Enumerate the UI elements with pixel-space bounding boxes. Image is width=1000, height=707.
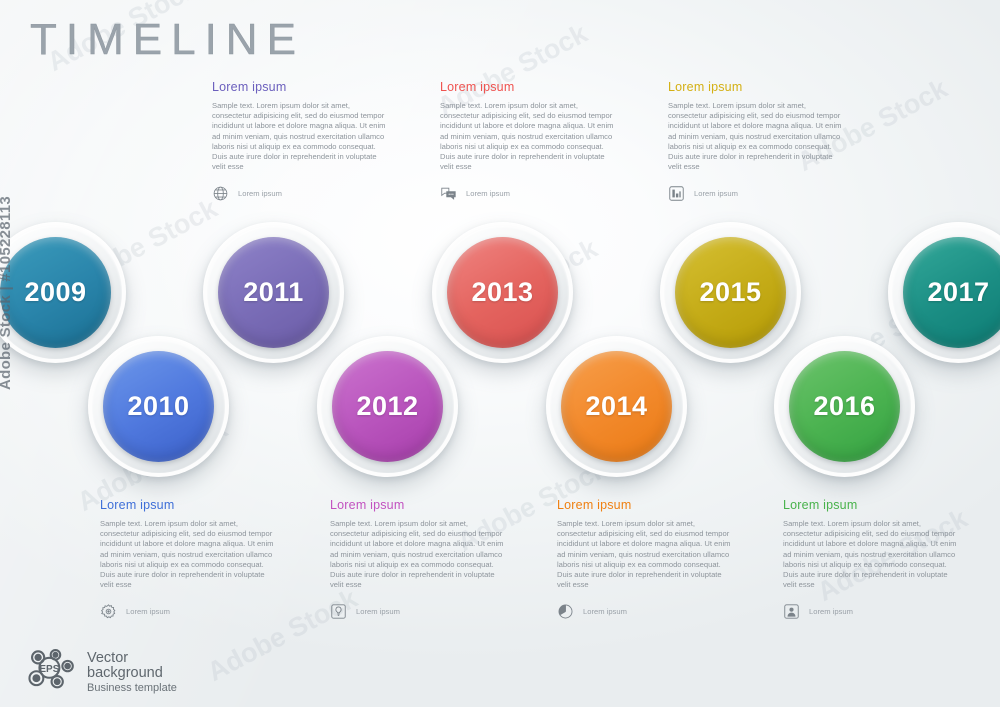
info-block-body: Sample text. Lorem ipsum dolor sit amet,… [668, 101, 844, 172]
timeline-circle-2011[interactable]: 2011 [203, 222, 344, 363]
info-block-footer: Lorem ipsum [330, 603, 506, 620]
info-block-footer: Lorem ipsum [668, 185, 844, 202]
circle-year-label: 2010 [127, 391, 189, 422]
globe-icon [212, 185, 229, 202]
info-block-heading: Lorem ipsum [100, 498, 276, 512]
info-block-top-3: Lorem ipsum Sample text. Lorem ipsum dol… [668, 80, 844, 202]
bar-chart-icon [668, 185, 685, 202]
info-block-bottom-3: Lorem ipsum Sample text. Lorem ipsum dol… [557, 498, 733, 620]
info-block-top-1: Lorem ipsum Sample text. Lorem ipsum dol… [212, 80, 388, 202]
info-block-footer: Lorem ipsum [212, 185, 388, 202]
info-block-body: Sample text. Lorem ipsum dolor sit amet,… [212, 101, 388, 172]
info-block-heading: Lorem ipsum [212, 80, 388, 94]
eps-label: EPS [39, 664, 59, 675]
info-block-footer-label: Lorem ipsum [809, 607, 853, 616]
lightbulb-icon [330, 603, 347, 620]
timeline-circle-2009[interactable]: 2009 [0, 222, 126, 363]
timeline-circle-2015[interactable]: 2015 [660, 222, 801, 363]
info-block-bottom-2: Lorem ipsum Sample text. Lorem ipsum dol… [330, 498, 506, 620]
footer-line-3: Business template [87, 683, 177, 695]
circle-year-label: 2011 [243, 277, 304, 308]
info-block-footer-label: Lorem ipsum [694, 189, 738, 198]
info-block-heading: Lorem ipsum [330, 498, 506, 512]
info-block-heading: Lorem ipsum [440, 80, 616, 94]
info-block-heading: Lorem ipsum [783, 498, 959, 512]
info-block-body: Sample text. Lorem ipsum dolor sit amet,… [783, 519, 959, 590]
eps-logo-icon: EPS [26, 647, 78, 695]
info-block-body: Sample text. Lorem ipsum dolor sit amet,… [557, 519, 733, 590]
info-block-footer-label: Lorem ipsum [238, 189, 282, 198]
timeline-circle-2017[interactable]: 2017 [888, 222, 1000, 363]
gear-icon [100, 603, 117, 620]
circle-year-label: 2012 [356, 391, 418, 422]
pie-chart-icon [557, 603, 574, 620]
info-block-footer-label: Lorem ipsum [466, 189, 510, 198]
poster-canvas: Adobe Stock Adobe Stock Adobe Stock Adob… [0, 0, 1000, 707]
circle-year-label: 2013 [471, 277, 533, 308]
info-block-top-2: Lorem ipsum Sample text. Lorem ipsum dol… [440, 80, 616, 202]
info-block-heading: Lorem ipsum [557, 498, 733, 512]
info-block-bottom-4: Lorem ipsum Sample text. Lorem ipsum dol… [783, 498, 959, 620]
footer-line-1: Vector [87, 651, 177, 667]
info-block-footer-label: Lorem ipsum [583, 607, 627, 616]
user-icon [783, 603, 800, 620]
info-block-heading: Lorem ipsum [668, 80, 844, 94]
timeline-circle-2010[interactable]: 2010 [88, 336, 229, 477]
circle-year-label: 2014 [585, 391, 647, 422]
info-block-footer: Lorem ipsum [440, 185, 616, 202]
timeline-circle-2013[interactable]: 2013 [432, 222, 573, 363]
info-block-bottom-1: Lorem ipsum Sample text. Lorem ipsum dol… [100, 498, 276, 620]
circle-year-label: 2009 [24, 277, 86, 308]
info-block-footer-label: Lorem ipsum [126, 607, 170, 616]
timeline-circle-2014[interactable]: 2014 [546, 336, 687, 477]
info-block-body: Sample text. Lorem ipsum dolor sit amet,… [440, 101, 616, 172]
circle-year-label: 2017 [927, 277, 989, 308]
page-title: TIMELINE [30, 15, 305, 65]
info-block-body: Sample text. Lorem ipsum dolor sit amet,… [330, 519, 506, 590]
info-block-footer: Lorem ipsum [783, 603, 959, 620]
footer: EPS Vector background Business template [26, 647, 177, 695]
footer-line-2: background [87, 666, 177, 682]
info-block-footer: Lorem ipsum [557, 603, 733, 620]
circle-year-label: 2016 [813, 391, 875, 422]
footer-text: Vector background Business template [87, 651, 177, 695]
info-block-footer: Lorem ipsum [100, 603, 276, 620]
info-block-body: Sample text. Lorem ipsum dolor sit amet,… [100, 519, 276, 590]
timeline-circle-2016[interactable]: 2016 [774, 336, 915, 477]
circle-year-label: 2015 [699, 277, 761, 308]
timeline-circle-2012[interactable]: 2012 [317, 336, 458, 477]
info-block-footer-label: Lorem ipsum [356, 607, 400, 616]
chat-bubbles-icon [440, 185, 457, 202]
